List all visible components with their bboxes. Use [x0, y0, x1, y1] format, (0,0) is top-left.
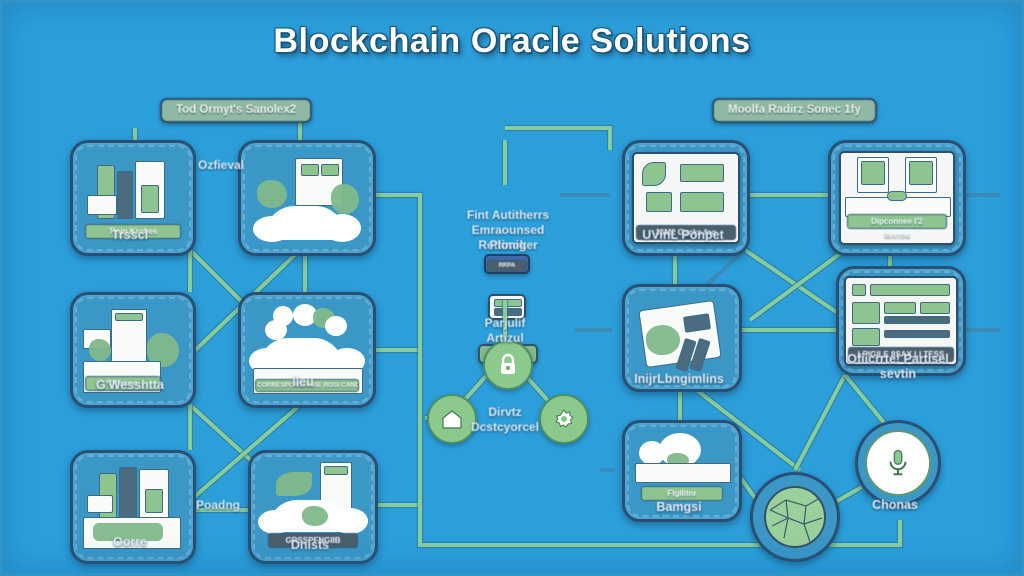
lock-icon — [496, 353, 520, 377]
circle-gear-node[interactable] — [539, 394, 589, 444]
node-label-ileu: Ileu — [268, 375, 338, 389]
circle-lock-node[interactable] — [483, 340, 533, 390]
circle-microphone-node[interactable] — [855, 420, 941, 506]
center-stack-label-2: Artizul — [455, 331, 555, 345]
node-thumbnail: Flgllitnr — [633, 431, 731, 511]
center-cluster-label-1: Dirvtz — [455, 405, 555, 419]
node-thumbnail — [251, 154, 363, 242]
node-thumbnail: Dipconnee I'2 fonrrow — [839, 151, 955, 245]
section-banner-right: Moolfa Radirz Sonec 1fy — [712, 98, 877, 123]
node-label-gwesshtta: G'Wesshtta — [66, 378, 194, 392]
node-card-ozfieval[interactable] — [238, 140, 376, 256]
circle-home-node[interactable] — [427, 394, 477, 444]
connector-group-left — [135, 110, 700, 545]
node-label-bamgsi: Bamgsi — [620, 500, 738, 514]
node-label-dnists: Dnists — [250, 538, 370, 552]
node-card-ileu[interactable]: CORRESPONSHARE ROSI CANDIDEZ — [238, 292, 376, 408]
center-heading-line1: Fint Autitherrs — [443, 208, 573, 223]
microphone-icon — [883, 448, 913, 478]
node-label-chonas: Chonas — [845, 498, 945, 512]
network-icon — [764, 486, 826, 548]
node-label-ofiicrrte: Ofiicrrte! Partisel sevtin — [840, 352, 956, 382]
section-banner-left: Tod Ormyt's Sanolex2 — [160, 98, 312, 123]
thumbnail-caption: Flgllitnr — [641, 486, 723, 501]
node-card-dipconnee[interactable]: Dipconnee I'2 fonrrow — [828, 140, 966, 256]
center-stack-label-1: Parjulif — [455, 316, 555, 330]
circle-network-node[interactable] — [750, 472, 840, 562]
node-label-uvinl-ponpet: UVinL Ponpet — [612, 228, 754, 242]
page-title: Blockchain Oracle Solutions — [0, 22, 1024, 61]
node-label-oorre: Oorre — [70, 535, 190, 549]
diagram-canvas: Blockchain Oracle Solutions Tod Ormyt's … — [0, 0, 1024, 576]
edge-label-poadng: Poadng — [182, 498, 254, 512]
edge-label-ozfieval: Ozfieval — [186, 158, 256, 172]
node-thumbnail — [634, 297, 730, 379]
thumbnail-caption: Dipconnee I'2 — [847, 214, 947, 229]
thumbnail-caption-secondary: fonrrow — [859, 231, 935, 242]
center-cluster-label-2: Dcstcyorcel — [448, 420, 562, 434]
center-heading-line3: Plonig — [443, 238, 573, 253]
node-label-injrlbngimlins: InijrLbngimlins — [606, 372, 752, 386]
node-label-trsscl: Trsscl — [70, 228, 190, 242]
